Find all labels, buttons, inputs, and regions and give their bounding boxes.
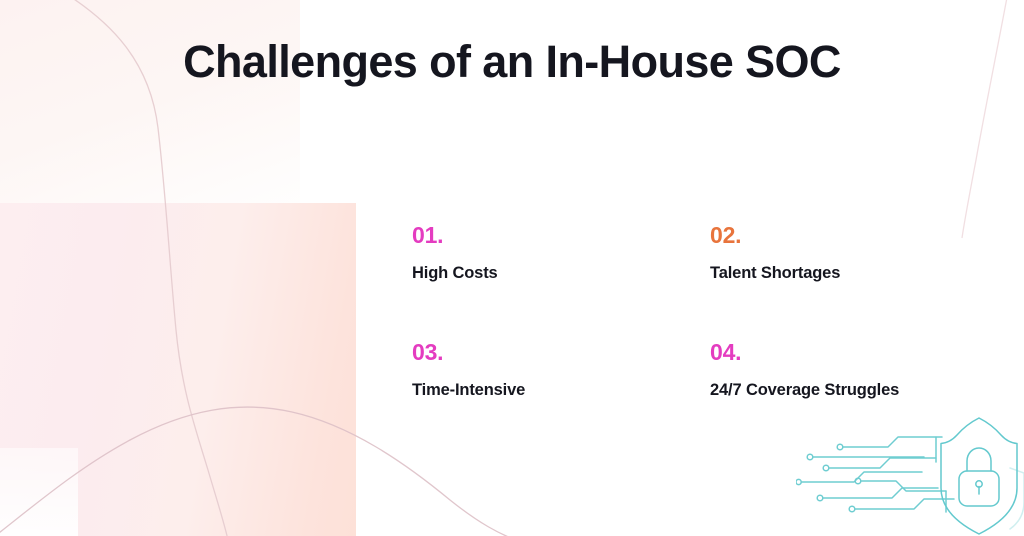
challenge-item-04: 04. 24/7 Coverage Struggles bbox=[710, 341, 972, 399]
challenge-number-02: 02. bbox=[710, 224, 972, 247]
shield-lock-icon bbox=[796, 416, 1024, 536]
challenge-item-02: 02. Talent Shortages bbox=[710, 224, 972, 341]
background-pink-block bbox=[0, 203, 356, 536]
challenge-label-04: 24/7 Coverage Struggles bbox=[710, 381, 972, 399]
challenge-number-01: 01. bbox=[412, 224, 710, 247]
challenge-number-04: 04. bbox=[710, 341, 972, 364]
challenge-item-01: 01. High Costs bbox=[412, 224, 710, 341]
lock-shackle bbox=[967, 448, 991, 471]
circuit-traces-icon bbox=[796, 437, 954, 512]
background-wash-top-left bbox=[0, 0, 300, 230]
challenge-label-02: Talent Shortages bbox=[710, 264, 972, 282]
security-artwork bbox=[796, 416, 1024, 536]
page-title: Challenges of an In-House SOC bbox=[0, 36, 1024, 88]
challenge-label-03: Time-Intensive bbox=[412, 381, 710, 399]
shield-outline bbox=[941, 418, 1017, 534]
challenge-item-03: 03. Time-Intensive bbox=[412, 341, 710, 399]
challenge-label-01: High Costs bbox=[412, 264, 710, 282]
slide-canvas: Challenges of an In-House SOC 01. High C… bbox=[0, 0, 1024, 536]
challenge-number-03: 03. bbox=[412, 341, 710, 364]
challenge-list: 01. High Costs 02. Talent Shortages 03. … bbox=[412, 224, 972, 399]
background-pink-notch bbox=[0, 448, 78, 536]
